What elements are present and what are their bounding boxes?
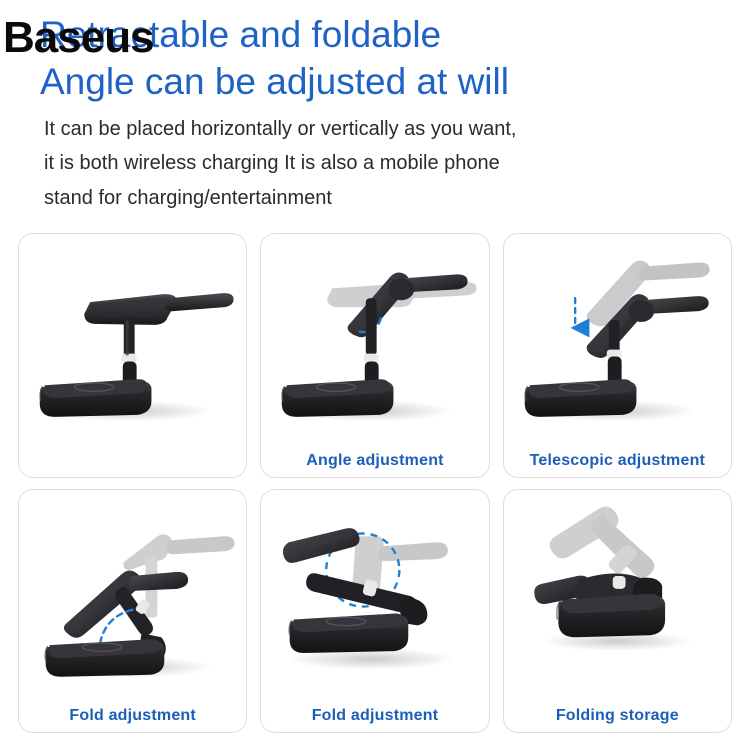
panel-caption: Angle adjustment (261, 452, 488, 470)
product-illustration-fold-1 (19, 490, 246, 699)
panel-extended (18, 233, 247, 478)
description-text: It can be placed horizontally or vertica… (44, 112, 724, 215)
panel-fold-adjustment-2: Fold adjustment (260, 489, 489, 734)
charging-base (40, 379, 152, 417)
top-plate-flat (283, 528, 360, 563)
panel-angle-adjustment: Angle adjustment (260, 233, 489, 478)
charging-base (524, 379, 636, 417)
product-illustration-telescopic (504, 234, 731, 443)
telescopic-collar (612, 575, 625, 588)
product-illustration-storage (504, 490, 731, 699)
panel-fold-adjustment-1: Fold adjustment (18, 489, 247, 734)
charging-base (282, 379, 394, 417)
panel-caption: Fold adjustment (261, 707, 488, 725)
product-feature-image: Retractable and foldable Angle can be ad… (0, 0, 750, 750)
product-illustration-extended (19, 234, 246, 443)
product-illustration-angle (261, 234, 488, 443)
panel-caption: Fold adjustment (19, 707, 246, 725)
charging-base (556, 593, 664, 636)
panel-folding-storage: Folding storage (503, 489, 732, 734)
description-line-1: It can be placed horizontally or vertica… (44, 112, 724, 146)
feature-panel-grid: Angle adjustment (18, 233, 732, 733)
panel-telescopic-adjustment: Telescopic adjustment (503, 233, 732, 478)
description-line-3: stand for charging/entertainment (44, 181, 724, 215)
headline-line-2: Angle can be adjusted at will (40, 59, 740, 106)
panel-caption: Folding storage (504, 707, 731, 725)
charging-base (289, 613, 408, 653)
top-plate (84, 293, 233, 325)
charging-base (45, 639, 164, 677)
panel-caption: Telescopic adjustment (504, 452, 731, 470)
description-line-2: it is both wireless charging It is also … (44, 146, 724, 180)
brand-watermark: Baseus (3, 16, 154, 60)
product-illustration-fold-2 (261, 490, 488, 699)
ghost-position (549, 506, 654, 577)
